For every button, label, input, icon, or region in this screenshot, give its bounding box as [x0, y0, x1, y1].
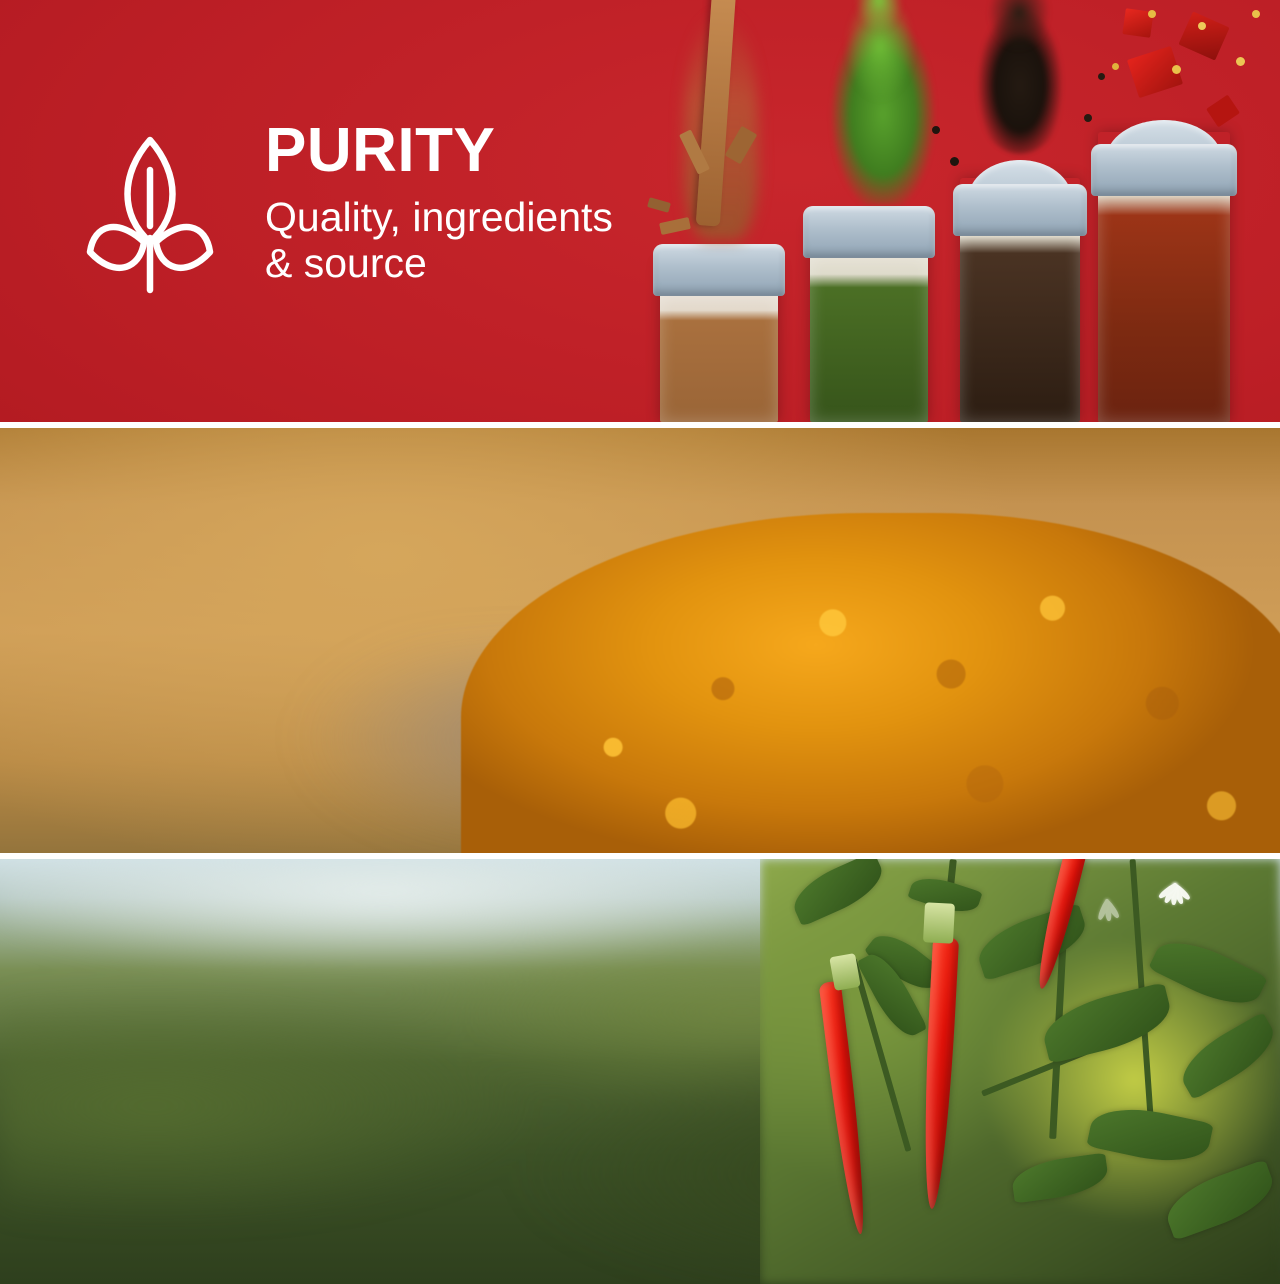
purity-text-block: PURITY Quality, ingredients & source	[265, 122, 613, 287]
benefits-banner-stack: PURITY Quality, ingredients & source	[0, 0, 1280, 1280]
purity-headline: PURITY	[265, 122, 613, 181]
panel-quality: QUALITY Most direct supply chain in the …	[0, 859, 1280, 1284]
leaf-plant-icon	[84, 130, 216, 303]
purity-subline: Quality, ingredients & source	[265, 195, 613, 287]
panel-purity: PURITY Quality, ingredients & source	[0, 0, 1280, 422]
quality-content: QUALITY Most direct supply chain in the …	[0, 859, 1280, 1284]
panel-consistency: CONSISTENCY The same great taste each & …	[0, 428, 1280, 853]
consistency-content: CONSISTENCY The same great taste each & …	[0, 428, 1280, 853]
purity-content: PURITY Quality, ingredients & source	[0, 0, 1280, 422]
